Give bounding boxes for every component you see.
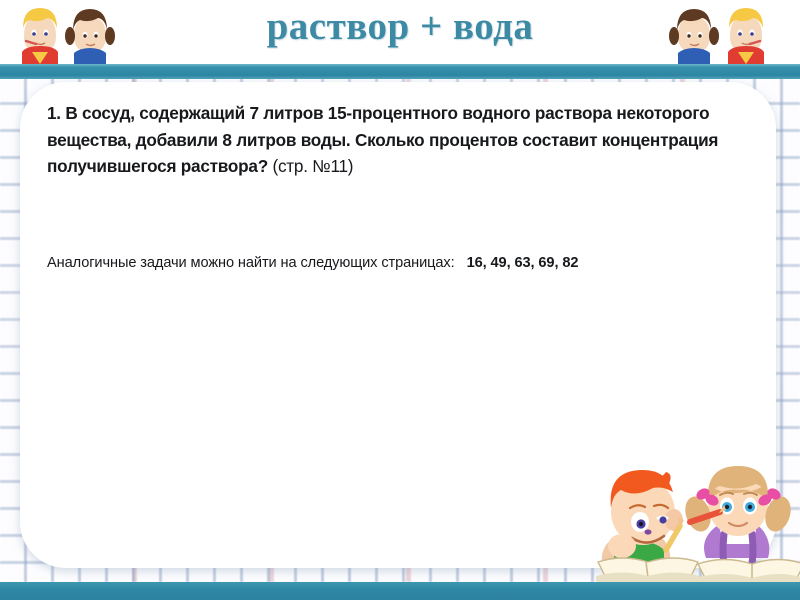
header-divider-bar [0, 64, 800, 79]
question-text: 1. В сосуд, содержащий 7 литров 15-проце… [47, 100, 727, 180]
top-left-kids-icon [8, 0, 138, 64]
top-right-kids-icon [654, 0, 796, 64]
slide: раствор + вода [0, 0, 800, 600]
similar-tasks-label: Аналогичные задачи можно найти на следую… [47, 255, 455, 271]
bottom-right-kids-reading-icon [586, 438, 800, 586]
question-source: (стр. №11) [272, 156, 353, 176]
similar-tasks-pages: 16, 49, 63, 69, 82 [467, 255, 579, 271]
footer-divider-bar [0, 582, 800, 600]
similar-tasks-line: Аналогичные задачи можно найти на следую… [47, 255, 747, 271]
question-body: 1. В сосуд, содержащий 7 литров 15-проце… [47, 103, 718, 176]
